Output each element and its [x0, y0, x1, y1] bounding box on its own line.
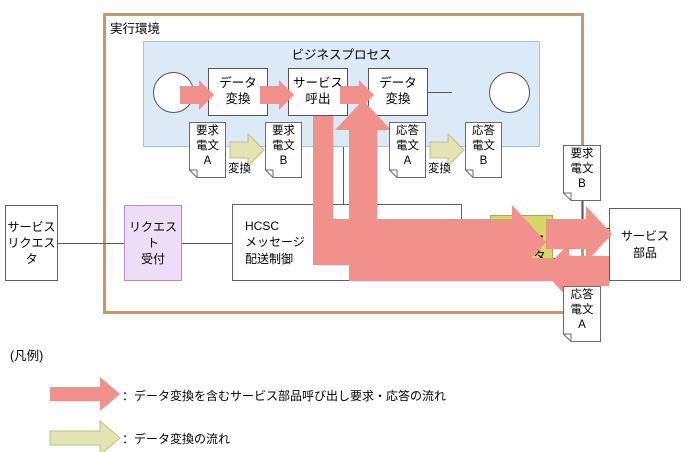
- document-response-a-right: 応答 電文 A: [563, 286, 601, 342]
- line-hcsc-to-adapter-lower: [462, 258, 490, 259]
- end-circle: [489, 72, 530, 113]
- node-label: サービス アダプタ: [497, 232, 545, 264]
- execution-environment-title: 実行環境: [110, 18, 160, 37]
- node-service-requester: サービス リクエスタ: [5, 205, 58, 281]
- process-box-data-conversion-1: データ 変換: [208, 68, 268, 116]
- olive-arrow-icon: [50, 421, 120, 452]
- line-requester-to-reception: [57, 243, 125, 244]
- label-response-conversion: 変換: [428, 160, 451, 176]
- bp-connector-1: [268, 92, 288, 93]
- line-hcsc-to-adapter-upper: [462, 228, 490, 229]
- document-response-a-inner: 応答 電文 A: [389, 122, 426, 178]
- business-process-title: ビジネスプロセス: [143, 44, 540, 63]
- document-request-a: 要求 電文 A: [189, 122, 226, 178]
- document-response-b-inner: 応答 電文 B: [465, 122, 502, 178]
- process-box-label: データ 変換: [219, 76, 257, 107]
- process-box-data-conversion-2: データ 変換: [368, 68, 428, 116]
- node-service-adapter: サービス アダプタ: [490, 215, 553, 281]
- bp-connector-2: [348, 92, 368, 93]
- legend-title: (凡例): [10, 345, 43, 364]
- label-request-conversion: 変換: [228, 160, 251, 176]
- line-adapter-to-component-upper: [553, 228, 609, 229]
- pink-arrow-icon: [50, 377, 120, 411]
- node-label: リクエスト 受付: [125, 219, 181, 268]
- node-hcsc-message-delivery: HCSC メッセージ 配送制御: [232, 204, 462, 281]
- process-box-label: サービス 呼出: [293, 76, 343, 107]
- line-reception-to-hcsc: [181, 243, 233, 244]
- start-circle: [153, 72, 194, 113]
- legend-item-0-text: ：データ変換を含むサービス部品呼び出し要求・応答の流れ: [122, 387, 446, 404]
- bp-connector-end: [428, 92, 452, 93]
- diagram-canvas: 実行環境 ビジネスプロセス データ 変換 サービス 呼出 データ 変換 サービス…: [0, 0, 687, 452]
- document-request-b-inner: 要求 電文 B: [265, 122, 302, 178]
- process-box-service-call: サービス 呼出: [288, 68, 348, 116]
- node-request-reception: リクエスト 受付: [124, 205, 182, 281]
- process-box-label: データ 変換: [379, 76, 417, 107]
- line-adapter-to-component-lower: [553, 258, 609, 259]
- node-label: HCSC メッセージ 配送制御: [245, 218, 305, 267]
- node-label: サービス 部品: [621, 228, 669, 260]
- document-request-b-right: 要求 電文 B: [563, 145, 601, 201]
- line-doc-response-a-right: [582, 258, 583, 288]
- node-label: サービス リクエスタ: [6, 219, 57, 268]
- node-service-component: サービス 部品: [609, 208, 681, 281]
- legend-item-1-text: ：データ変換の流れ: [122, 430, 230, 447]
